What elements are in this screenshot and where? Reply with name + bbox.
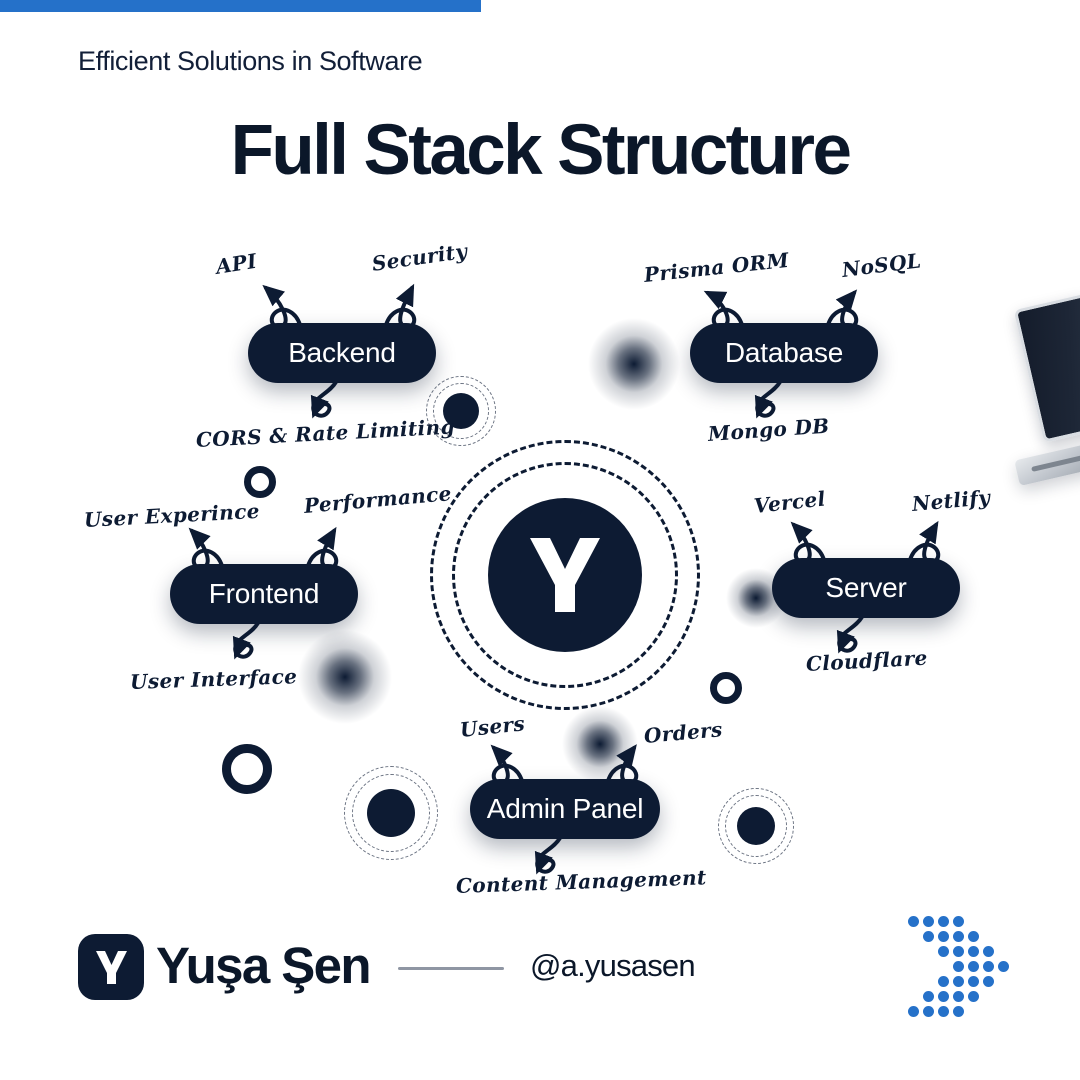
blur-blob-2	[298, 630, 392, 724]
branch-label-security: Security	[370, 239, 468, 276]
node-server[interactable]: Server	[772, 558, 960, 618]
branch-label-cloudflare: Cloudflare	[805, 646, 928, 676]
brand-logo-icon	[78, 934, 144, 1000]
logo-dot	[908, 1006, 919, 1017]
node-admin-panel-label: Admin Panel	[487, 793, 644, 825]
branch-label-user-interface: User Interface	[130, 664, 298, 694]
branch-label-users: Users	[459, 711, 526, 742]
logo-dot	[968, 976, 979, 987]
center-logo-disc	[488, 498, 642, 652]
node-frontend[interactable]: Frontend	[170, 564, 358, 624]
logo-dot	[953, 976, 964, 987]
ring-outline-2	[222, 744, 272, 794]
logo-dot	[983, 961, 994, 972]
logo-dot	[968, 931, 979, 942]
logo-dot	[998, 961, 1009, 972]
dot-halo-2	[344, 766, 438, 860]
logo-dot	[968, 991, 979, 1002]
center-logo-emblem	[430, 440, 700, 710]
laptop-screen	[1014, 293, 1080, 443]
ring-outline-3	[710, 672, 742, 704]
branch-label-content-management: Content Management	[456, 865, 707, 898]
dot-matrix-logo	[908, 916, 1012, 1016]
node-database-label: Database	[725, 337, 843, 369]
branch-label-cors-rate-limiting: CORS & Rate Limiting	[195, 414, 455, 452]
logo-dot	[938, 976, 949, 987]
top-accent-bar	[0, 0, 481, 12]
node-admin-panel[interactable]: Admin Panel	[470, 779, 660, 839]
branch-label-orders: Orders	[643, 717, 724, 748]
logo-dot	[953, 916, 964, 927]
logo-dot	[923, 1006, 934, 1017]
logo-dot	[938, 991, 949, 1002]
branch-label-netlify: Netlify	[911, 485, 991, 516]
branch-label-vercel: Vercel	[753, 487, 827, 518]
logo-dot	[923, 931, 934, 942]
branch-label-mongo-db: Mongo DB	[707, 414, 830, 446]
ring-outline-1	[244, 466, 276, 498]
logo-dot	[953, 961, 964, 972]
node-server-label: Server	[825, 572, 906, 604]
node-frontend-label: Frontend	[209, 578, 319, 610]
logo-dot	[908, 916, 919, 927]
branch-label-api: API	[214, 249, 258, 279]
blur-blob-4	[562, 706, 638, 782]
branch-label-nosql: NoSQL	[841, 248, 923, 282]
brand-name: Yuşa Şen	[156, 936, 370, 995]
y-logo-icon	[528, 535, 602, 615]
logo-dot	[923, 991, 934, 1002]
branch-label-prisma-orm: Prisma ORM	[643, 248, 790, 287]
y-brand-icon	[95, 949, 128, 986]
blur-blob-1	[588, 318, 680, 410]
branch-label-user-experince: User Experince	[83, 499, 260, 532]
logo-dot	[953, 1006, 964, 1017]
social-handle[interactable]: @a.yusasen	[530, 948, 695, 984]
node-backend[interactable]: Backend	[248, 323, 436, 383]
laptop-base	[1014, 440, 1080, 486]
logo-dot	[953, 946, 964, 957]
logo-dot	[938, 946, 949, 957]
logo-dot	[983, 946, 994, 957]
footer-divider	[398, 967, 504, 970]
dot-halo-3	[718, 788, 794, 864]
logo-dot	[953, 931, 964, 942]
logo-dot	[938, 1006, 949, 1017]
page-title: Full Stack Structure	[0, 110, 1080, 191]
logo-dot	[953, 991, 964, 1002]
logo-dot	[938, 916, 949, 927]
eyebrow-text: Efficient Solutions in Software	[78, 46, 422, 77]
node-backend-label: Backend	[288, 337, 396, 369]
poster-canvas: Efficient Solutions in Software Full Sta…	[0, 0, 1080, 1080]
logo-dot	[983, 976, 994, 987]
logo-dot	[968, 946, 979, 957]
laptop-photo	[996, 300, 1080, 510]
logo-dot	[968, 961, 979, 972]
logo-dot	[938, 931, 949, 942]
logo-dot	[923, 916, 934, 927]
node-database[interactable]: Database	[690, 323, 878, 383]
